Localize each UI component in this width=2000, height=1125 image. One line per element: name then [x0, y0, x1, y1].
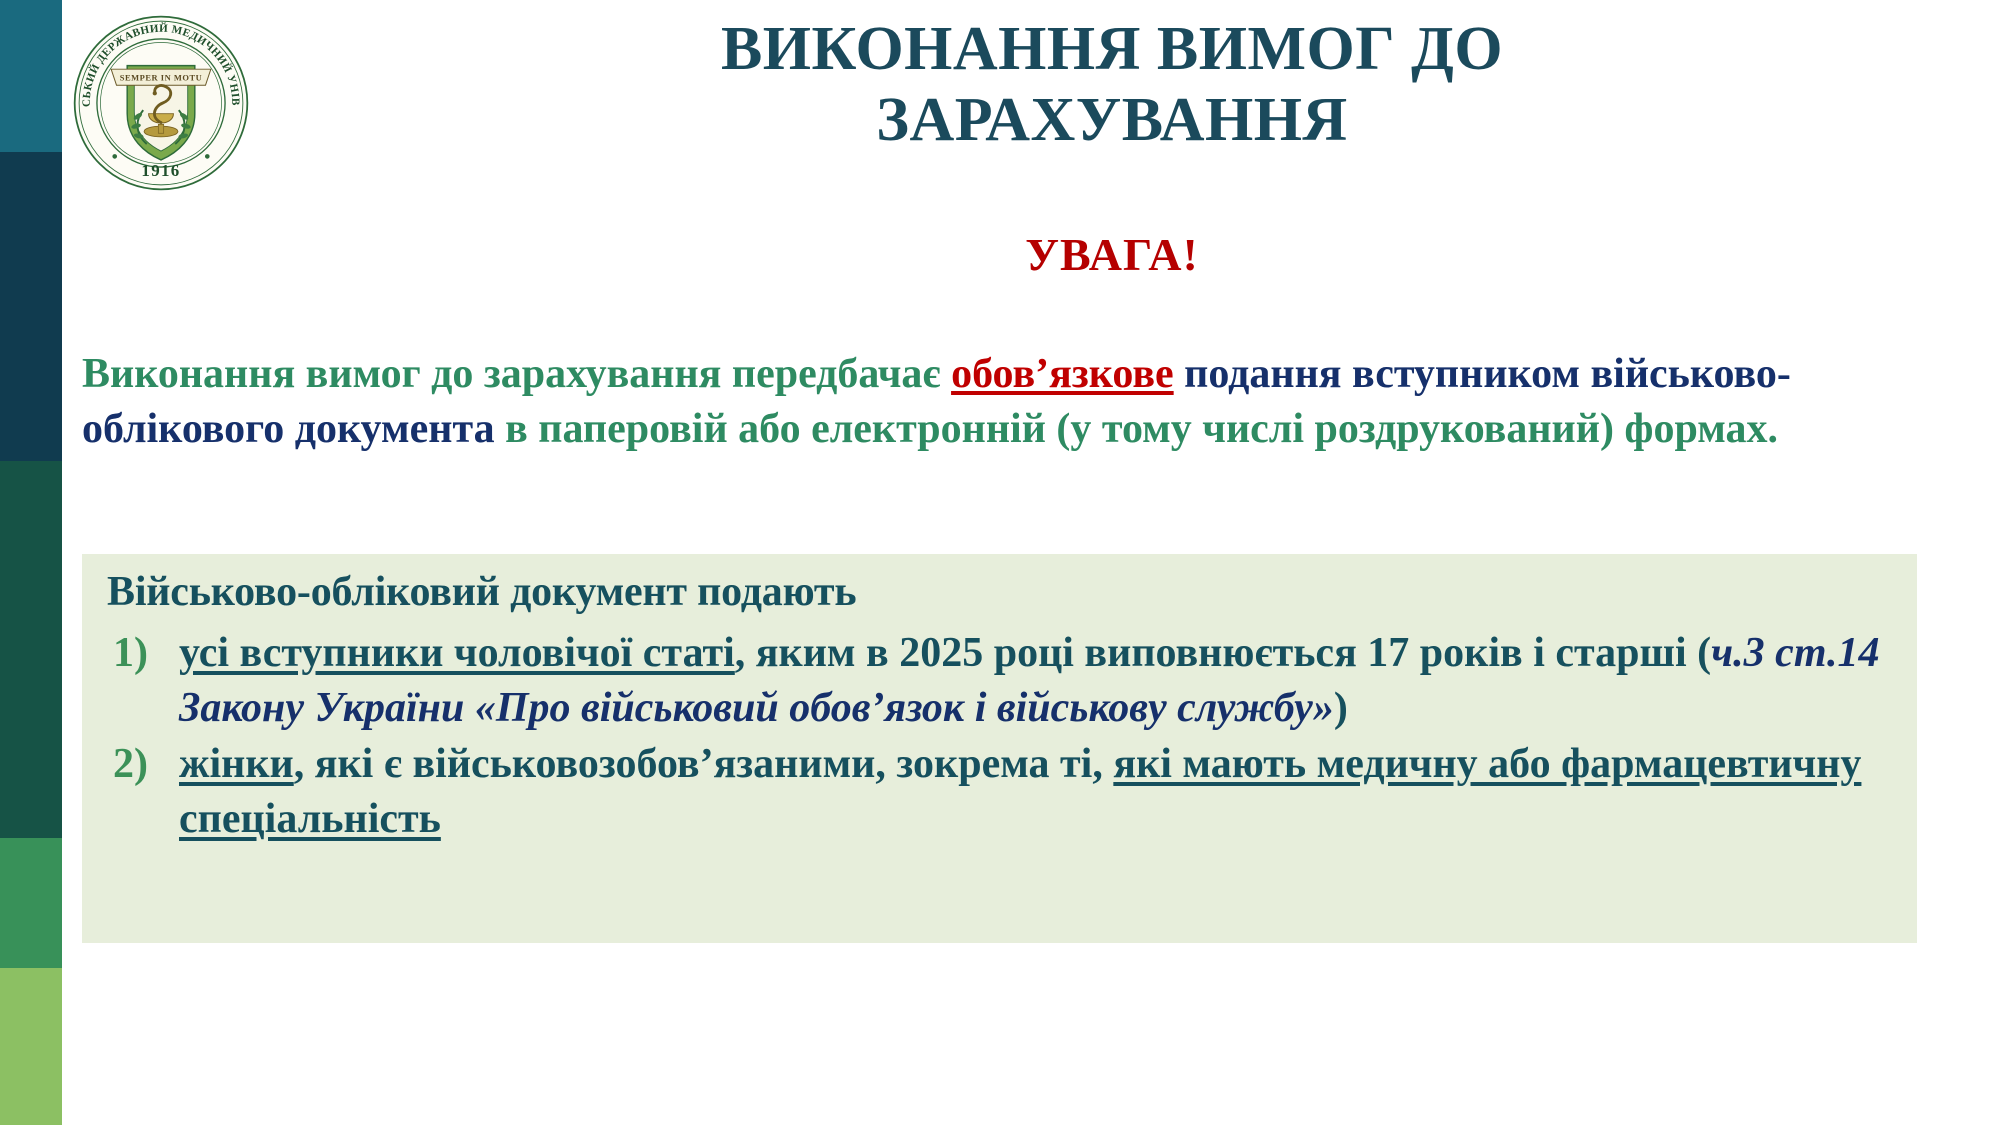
svg-text:1916: 1916	[141, 161, 180, 180]
university-seal-logo: ДНІПРОВСЬКИЙ ДЕРЖАВНИЙ МЕДИЧНИЙ УНІВЕРСИ…	[72, 14, 250, 192]
list-item-marker-1: 1)	[107, 626, 179, 681]
list-item-body-2: жінки, які є військовозобов’язаними, зок…	[179, 737, 1897, 846]
list-item-body-1: усі вступники чоловічої статі, яким в 20…	[179, 626, 1897, 735]
slide-canvas: ДНІПРОВСЬКИЙ ДЕРЖАВНИЙ МЕДИЧНИЙ УНІВЕРСИ…	[62, 0, 2000, 1125]
slide-title-line-2: ЗАРАХУВАННЯ	[542, 85, 1682, 156]
seal-icon: ДНІПРОВСЬКИЙ ДЕРЖАВНИЙ МЕДИЧНИЙ УНІВЕРСИ…	[72, 14, 250, 192]
callout-heading: Військово-обліковий документ подають	[107, 568, 856, 616]
decorative-sidebar	[0, 0, 62, 1125]
intro-segment-red-underlined: обов’язкове	[951, 351, 1174, 397]
slide-title: ВИКОНАННЯ ВИМОГ ДО ЗАРАХУВАННЯ	[542, 14, 1682, 155]
band-mid-green	[0, 838, 62, 967]
band-teal	[0, 0, 62, 152]
band-light-green	[0, 968, 62, 1125]
item2-plain-1: , які є військовозобов’язаними, зокрема …	[294, 741, 1114, 787]
list-item: 2) жінки, які є військовозобов’язаними, …	[107, 737, 1897, 846]
slide-title-line-1: ВИКОНАННЯ ВИМОГ ДО	[542, 14, 1682, 85]
intro-segment-green-2: в паперовій або електронній (у тому числ…	[495, 406, 1778, 452]
requirements-list: 1) усі вступники чоловічої статі, яким в…	[107, 626, 1897, 848]
attention-heading: УВАГА!	[542, 228, 1682, 281]
list-item-marker-2: 2)	[107, 737, 179, 792]
requirements-callout-box: Військово-обліковий документ подають 1) …	[82, 554, 1917, 943]
item1-underlined-phrase: усі вступники чоловічої статі	[179, 630, 735, 676]
item1-plain-1: , яким в 2025 році виповнюється 17 років…	[735, 630, 1711, 676]
svg-text:SEMPER IN MOTU: SEMPER IN MOTU	[120, 73, 202, 83]
item1-plain-2: )	[1334, 685, 1348, 731]
band-dark-navy	[0, 152, 62, 461]
list-item: 1) усі вступники чоловічої статі, яким в…	[107, 626, 1897, 735]
band-dark-green	[0, 461, 62, 838]
intro-paragraph: Виконання вимог до зарахування передбача…	[82, 347, 1982, 456]
item2-underlined-phrase-1: жінки	[179, 741, 294, 787]
intro-segment-green-1: Виконання вимог до зарахування передбача…	[82, 351, 951, 397]
